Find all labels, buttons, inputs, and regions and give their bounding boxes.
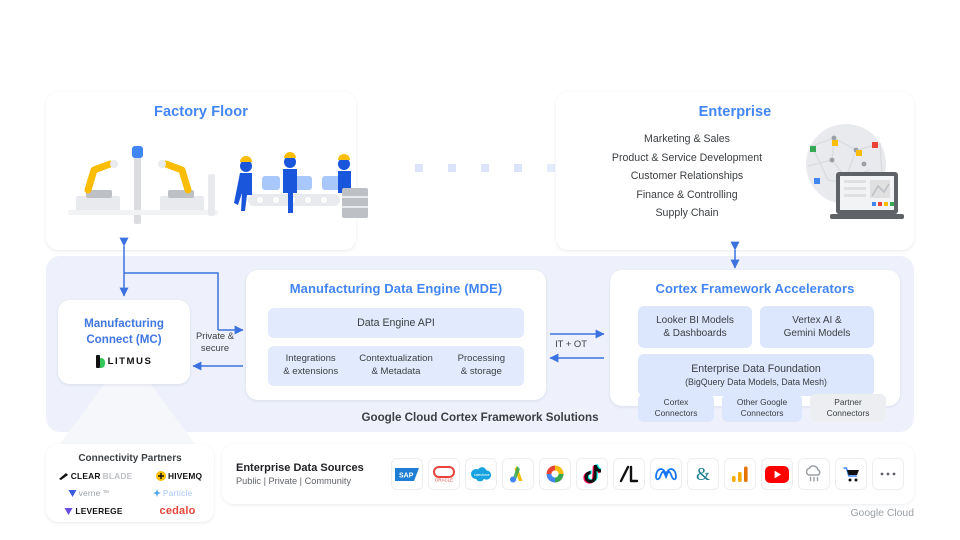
factory-enterprise-dotted-link — [415, 163, 555, 173]
cedalo-logo: cedalo — [160, 505, 196, 517]
sap-logo[interactable]: SAP — [392, 459, 422, 489]
mde-capability-row: Integrations& extensions Contextualizati… — [268, 346, 524, 386]
dot — [481, 164, 489, 172]
looker-bi-models-box[interactable]: Looker BI Models & Dashboards — [638, 306, 752, 348]
leverege-mark-icon — [64, 507, 73, 516]
connectivity-partners-heading: Connectivity Partners — [78, 453, 181, 464]
liveramp-logo-icon — [618, 465, 640, 483]
leverege-logo: LEVEREGE — [64, 506, 122, 516]
data-sources-text: Enterprise Data Sources Public | Private… — [236, 462, 392, 486]
enterprise-title: Enterprise — [556, 104, 914, 120]
litmus-logo: LITMUS — [96, 355, 153, 368]
private-secure-label: Private & secure — [186, 330, 244, 355]
verne-logo: verne™ — [68, 488, 110, 498]
dot — [547, 164, 555, 172]
it-ot-label: IT + OT — [546, 338, 596, 350]
mde-cell-processing[interactable]: Processing& storage — [439, 346, 524, 386]
salesforce-logo[interactable]: salesforce — [466, 459, 496, 489]
google-ads-logo[interactable] — [503, 459, 533, 489]
weather-cloud-rain-icon — [804, 465, 824, 483]
enterprise-item: Finance & Controlling — [574, 186, 800, 205]
svg-text:salesforce: salesforce — [474, 473, 490, 477]
diagram-canvas: Factory Floor — [0, 0, 960, 540]
enterprise-data-sources-card: Enterprise Data Sources Public | Private… — [222, 444, 914, 504]
factory-workers-illustration — [232, 136, 372, 228]
partner-logo-row: CLEARBLADE HIVEMQ — [46, 471, 214, 481]
enterprise-item: Product & Service Development — [574, 149, 800, 168]
cortex-connectors-chip[interactable]: Cortex Connectors — [638, 394, 714, 422]
particle-logo: Particle — [153, 488, 193, 498]
factory-floor-title: Factory Floor — [46, 104, 356, 120]
enterprise-item: Customer Relationships — [574, 167, 800, 186]
globe-laptop-illustration — [794, 120, 906, 228]
particle-mark-icon — [153, 489, 161, 497]
enterprise-function-list: Marketing & Sales Product & Service Deve… — [574, 130, 800, 223]
more-logo[interactable] — [873, 459, 903, 489]
enterprise-item: Marketing & Sales — [574, 130, 800, 149]
meta-logo[interactable] — [651, 459, 681, 489]
mc-title: Manufacturing Connect (MC) — [84, 316, 164, 347]
tiktok-logo[interactable] — [577, 459, 607, 489]
other-google-connectors-chip[interactable]: Other Google Connectors — [722, 394, 802, 422]
salesforce-logo-icon: salesforce — [469, 466, 493, 482]
svg-text:ORACLE: ORACLE — [435, 478, 453, 483]
litmus-wordmark: LITMUS — [108, 356, 153, 367]
shopping-cart-logo[interactable] — [836, 459, 866, 489]
enterprise-panel: Enterprise Marketing & Sales Product & S… — [556, 92, 914, 250]
meta-logo-icon — [654, 467, 678, 481]
factory-floor-panel: Factory Floor — [46, 92, 356, 250]
cortex-accelerators-card: Cortex Framework Accelerators Looker BI … — [610, 270, 900, 406]
dot — [448, 164, 456, 172]
google-ads-logo-icon — [508, 464, 528, 484]
ellipsis-icon — [879, 471, 897, 477]
vertex-ai-gemini-box[interactable]: Vertex AI & Gemini Models — [760, 306, 874, 348]
liveramp-logo[interactable] — [614, 459, 644, 489]
dot — [415, 164, 423, 172]
hivemq-mark-icon — [156, 471, 166, 481]
weather-logo[interactable] — [799, 459, 829, 489]
verne-mark-icon — [68, 489, 77, 498]
partner-connectors-chip[interactable]: Partner Connectors — [810, 394, 886, 422]
data-sources-title: Enterprise Data Sources — [236, 462, 392, 474]
oracle-logo[interactable]: ORACLE — [429, 459, 459, 489]
data-engine-api-box[interactable]: Data Engine API — [268, 308, 524, 338]
google-marketing-platform-logo[interactable] — [540, 459, 570, 489]
enterprise-data-foundation-box[interactable]: Enterprise Data Foundation (BigQuery Dat… — [638, 354, 874, 396]
google-cloud-footer: Google Cloud — [850, 508, 914, 519]
sap-logo-icon: SAP — [395, 468, 419, 481]
manufacturing-connect-card[interactable]: Manufacturing Connect (MC) LITMUS — [58, 300, 190, 384]
hivemq-logo: HIVEMQ — [156, 471, 202, 481]
partner-logo-row: LEVEREGE cedalo — [46, 505, 214, 517]
youtube-logo-icon — [765, 466, 789, 483]
partner-logo-row: verne™ Particle — [46, 488, 214, 498]
google-analytics-logo-icon — [731, 465, 749, 483]
enterprise-item: Supply Chain — [574, 204, 800, 223]
data-source-logo-row: SAP ORACLE salesforce — [392, 459, 903, 489]
shopping-cart-icon — [841, 465, 861, 483]
youtube-logo[interactable] — [762, 459, 792, 489]
svg-text:SAP: SAP — [399, 472, 414, 479]
dun-and-bradstreet-logo[interactable]: & — [688, 459, 718, 489]
mde-card: Manufacturing Data Engine (MDE) Data Eng… — [246, 270, 546, 400]
clearblade-logo: CLEARBLADE — [58, 471, 133, 481]
clearblade-mark-icon — [58, 472, 69, 481]
robot-arms-illustration — [68, 134, 228, 230]
litmus-mark-icon — [96, 355, 105, 368]
mde-cell-integrations[interactable]: Integrations& extensions — [268, 346, 353, 386]
mde-cell-contextualization[interactable]: Contextualization& Metadata — [353, 346, 438, 386]
dot — [514, 164, 522, 172]
dnb-logo-icon: & — [695, 464, 711, 484]
connectivity-partners-card: Connectivity Partners CLEARBLADE HIVEMQ … — [46, 444, 214, 522]
gmp-logo-icon — [545, 464, 565, 484]
svg-text:&: & — [696, 464, 710, 484]
tiktok-logo-icon — [583, 464, 601, 484]
data-sources-subtitle: Public | Private | Community — [236, 476, 392, 486]
cortex-title: Cortex Framework Accelerators — [610, 281, 900, 296]
oracle-logo-icon: ORACLE — [432, 466, 456, 482]
google-analytics-logo[interactable] — [725, 459, 755, 489]
mde-title: Manufacturing Data Engine (MDE) — [246, 281, 546, 296]
